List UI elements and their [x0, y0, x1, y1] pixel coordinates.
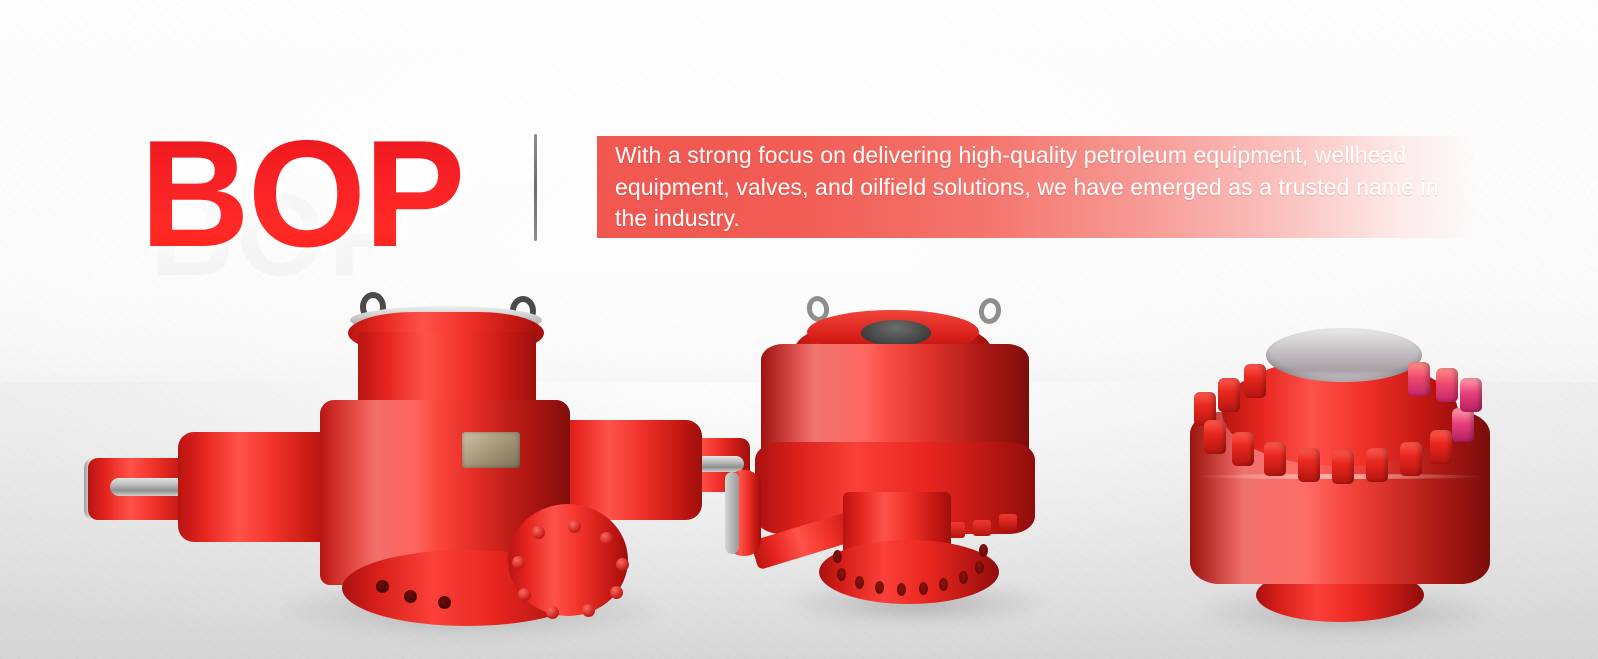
flange-bolt-hole — [919, 582, 928, 595]
ram-bop-left-bonnet — [178, 432, 338, 542]
annular-bop-bottom-flange — [819, 540, 999, 604]
annular-bop-bore — [861, 320, 931, 346]
flange-bolt-hole — [959, 571, 968, 584]
ram-bop-nameplate — [462, 432, 520, 468]
product-image-group — [0, 0, 1598, 659]
annular-bop-lug — [999, 514, 1017, 530]
flange-bolt-hole — [855, 576, 864, 589]
ram-bop-stud — [532, 526, 545, 539]
flange-bolt-hole — [837, 568, 846, 581]
product-ram-bop — [70, 280, 720, 630]
spherical-bop-stud — [1244, 364, 1266, 398]
spherical-bop-stud — [1408, 362, 1430, 396]
ram-bop-stud — [568, 520, 581, 533]
spherical-bop-cover-plate — [1266, 328, 1422, 382]
ram-bop-left-indicator-slot — [110, 478, 188, 496]
flange-bolt-hole — [979, 544, 988, 557]
product-spherical-bop — [1160, 316, 1520, 628]
eye-bolt-right-icon — [977, 296, 1003, 325]
spherical-bop-stud — [1460, 378, 1482, 412]
annular-bop-lug — [973, 520, 991, 536]
spherical-bop-stud — [1332, 450, 1354, 484]
spherical-bop-stud — [1218, 378, 1240, 412]
flange-bolt-hole — [975, 561, 984, 574]
bop-hero-banner: BOP BOP With a strong focus on deliverin… — [0, 0, 1598, 659]
ram-bop-base-hole — [376, 580, 389, 593]
ram-bop-stud — [616, 558, 629, 571]
product-annular-bop — [725, 292, 1075, 627]
spherical-bop-stud — [1430, 430, 1452, 464]
ram-bop-stud — [610, 586, 623, 599]
spherical-bop-stud — [1298, 448, 1320, 482]
spherical-bop-stud — [1366, 448, 1388, 482]
ram-bop-stud — [546, 606, 559, 619]
annular-bop-outlet-face — [725, 472, 739, 554]
flange-bolt-hole — [939, 578, 948, 591]
ram-bop-stud — [582, 604, 595, 617]
flange-bolt-hole — [833, 550, 842, 563]
spherical-bop-stud — [1400, 442, 1422, 476]
spherical-bop-stud — [1204, 420, 1226, 454]
spherical-bop-stud — [1232, 432, 1254, 466]
ram-bop-base-hole — [404, 590, 417, 603]
spherical-bop-stud — [1264, 442, 1286, 476]
spherical-bop-stud — [1436, 368, 1458, 402]
ram-bop-stud — [518, 588, 531, 601]
spherical-bop-stud — [1452, 408, 1474, 442]
flange-bolt-hole — [897, 583, 906, 596]
flange-bolt-hole — [875, 581, 884, 594]
ram-bop-stud — [600, 532, 613, 545]
ram-bop-base-hole — [438, 596, 451, 609]
ram-bop-stud — [512, 556, 525, 569]
